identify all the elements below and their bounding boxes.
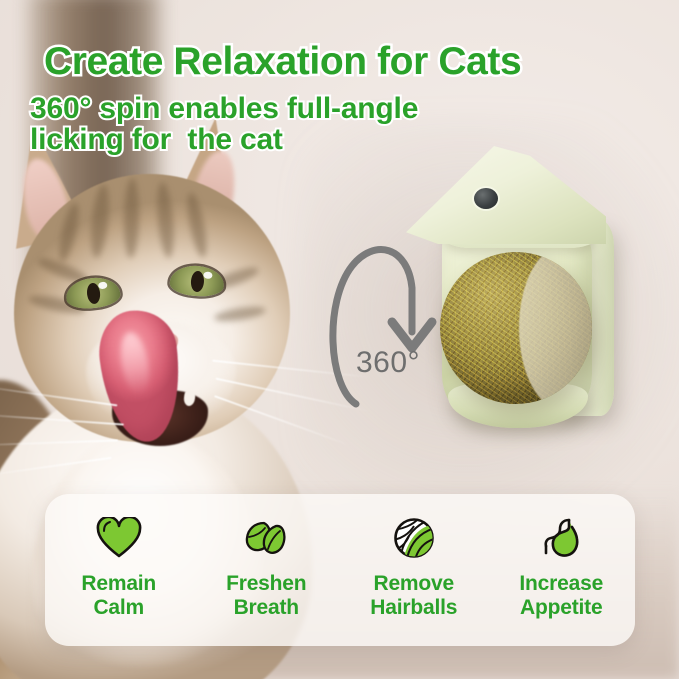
rotation-indicator: 360° xyxy=(322,236,442,416)
rotation-arrow-icon xyxy=(322,236,442,416)
feature-item-increase-appetite: Increase Appetite xyxy=(488,494,636,646)
feature-item-freshen-breath: Freshen Breath xyxy=(193,494,341,646)
rotation-label: 360° xyxy=(356,346,420,380)
cat-eye-glint xyxy=(98,281,108,289)
feature-label: Remove Hairballs xyxy=(370,572,457,619)
page-title: Create Relaxation for Cats xyxy=(44,40,521,84)
catnip-ball xyxy=(440,252,592,404)
catnip-ball-shading xyxy=(519,252,592,404)
feature-label: Increase Appetite xyxy=(519,572,603,619)
subtitle-line-2: licking for the cat xyxy=(30,123,283,157)
holder-beak xyxy=(406,146,606,244)
feature-label: Remain Calm xyxy=(81,572,156,619)
feature-label: Freshen Breath xyxy=(226,572,306,619)
holder-eye-icon xyxy=(474,188,498,209)
product-infographic: 360° Create Relaxation for Cats 360° spi… xyxy=(0,0,679,679)
feature-item-remain-calm: Remain Calm xyxy=(45,494,193,646)
hairball-icon xyxy=(390,514,438,562)
subtitle-line-1: 360° spin enables full-angle xyxy=(30,92,418,126)
feature-panel: Remain Calm Freshen Breath xyxy=(45,494,635,646)
cat-pupil xyxy=(190,270,204,292)
mint-leaf-icon xyxy=(242,514,290,562)
feature-item-remove-hairballs: Remove Hairballs xyxy=(340,494,488,646)
cat-eye-glint xyxy=(203,271,212,279)
stomach-icon xyxy=(537,514,585,562)
heart-icon xyxy=(95,514,143,562)
